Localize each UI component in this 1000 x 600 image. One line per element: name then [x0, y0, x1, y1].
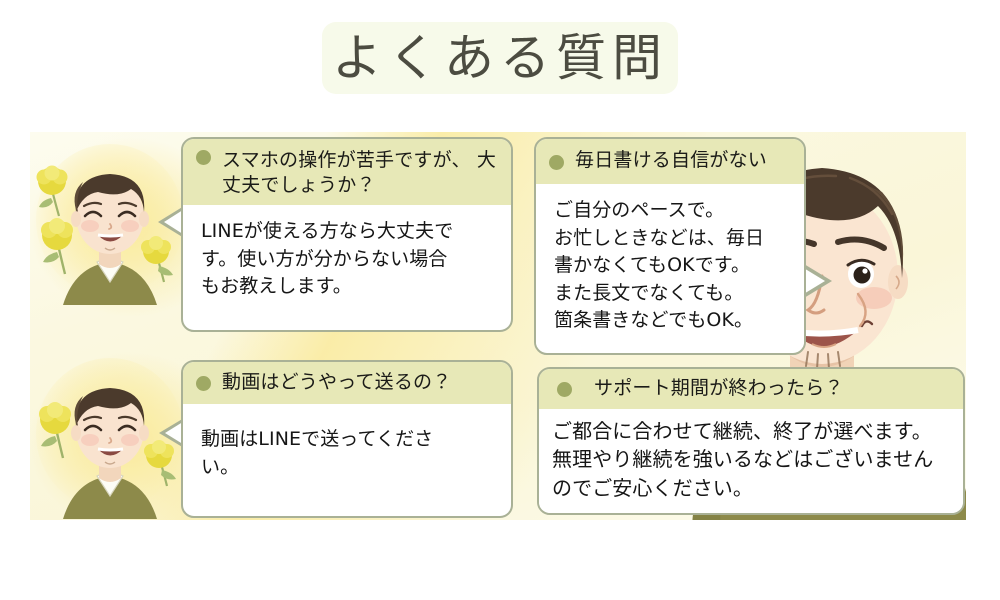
faq-answer-1: LINEが使える方なら大丈夫で す。使い方が分からない場合 もお教えします。: [201, 218, 497, 301]
faq-question-header-1: スマホの操作が苦手ですが、 大丈夫でしょうか？: [183, 139, 511, 205]
faq-question-2: 毎日書ける自信がない: [575, 148, 767, 173]
faq-item-4[interactable]: サポート期間が終わったら？ ご都合に合わせて継続、終了が選べます。 無理やり継続…: [537, 367, 965, 515]
faq-item-2[interactable]: 毎日書ける自信がない ご自分のペースで。 お忙しときなどは、毎日 書かなくてもO…: [534, 137, 806, 355]
avatar-illustration-icon: [35, 354, 185, 519]
faq-question-3: 動画はどうやって送るの？: [222, 370, 451, 395]
bullet-dot-icon: [196, 376, 211, 391]
faq-answer-2: ご自分のペースで。 お忙しときなどは、毎日 書かなくてもOKです。 また長文でな…: [554, 197, 790, 335]
bullet-dot-icon: [196, 150, 211, 165]
faq-question-4: サポート期間が終わったら？: [594, 376, 844, 401]
faq-answer-body-3: 動画はLINEで送ってくださ い。: [183, 404, 511, 493]
faq-question-header-4: サポート期間が終わったら？: [539, 369, 963, 409]
faq-answer-body-2: ご自分のペースで。 お忙しときなどは、毎日 書かなくてもOKです。 また長文でな…: [536, 184, 804, 347]
avatar-small-2: [35, 354, 185, 519]
faq-item-3[interactable]: 動画はどうやって送るの？ 動画はLINEで送ってくださ い。: [181, 360, 513, 518]
faq-question-1: スマホの操作が苦手ですが、 大丈夫でしょうか？: [222, 148, 499, 198]
faq-answer-4: ご都合に合わせて継続、終了が選べます。 無理やり継続を強いるなどはございません …: [552, 417, 949, 502]
avatar-small-1: [35, 140, 185, 305]
faq-answer-3: 動画はLINEで送ってくださ い。: [201, 426, 497, 481]
faq-question-header-3: 動画はどうやって送るの？: [183, 362, 511, 404]
bullet-dot-icon: [549, 155, 564, 170]
avatar-illustration-icon: [35, 140, 185, 305]
faq-item-1[interactable]: スマホの操作が苦手ですが、 大丈夫でしょうか？ LINEが使える方なら大丈夫で …: [181, 137, 513, 332]
page-title-pill: よくある質問: [322, 22, 678, 94]
faq-answer-body-4: ご都合に合わせて継続、終了が選べます。 無理やり継続を強いるなどはございません …: [539, 409, 963, 514]
faq-answer-body-1: LINEが使える方なら大丈夫で す。使い方が分からない場合 もお教えします。: [183, 205, 511, 313]
page-title: よくある質問: [332, 33, 668, 83]
faq-question-header-2: 毎日書ける自信がない: [536, 139, 804, 184]
bullet-dot-icon: [557, 382, 572, 397]
